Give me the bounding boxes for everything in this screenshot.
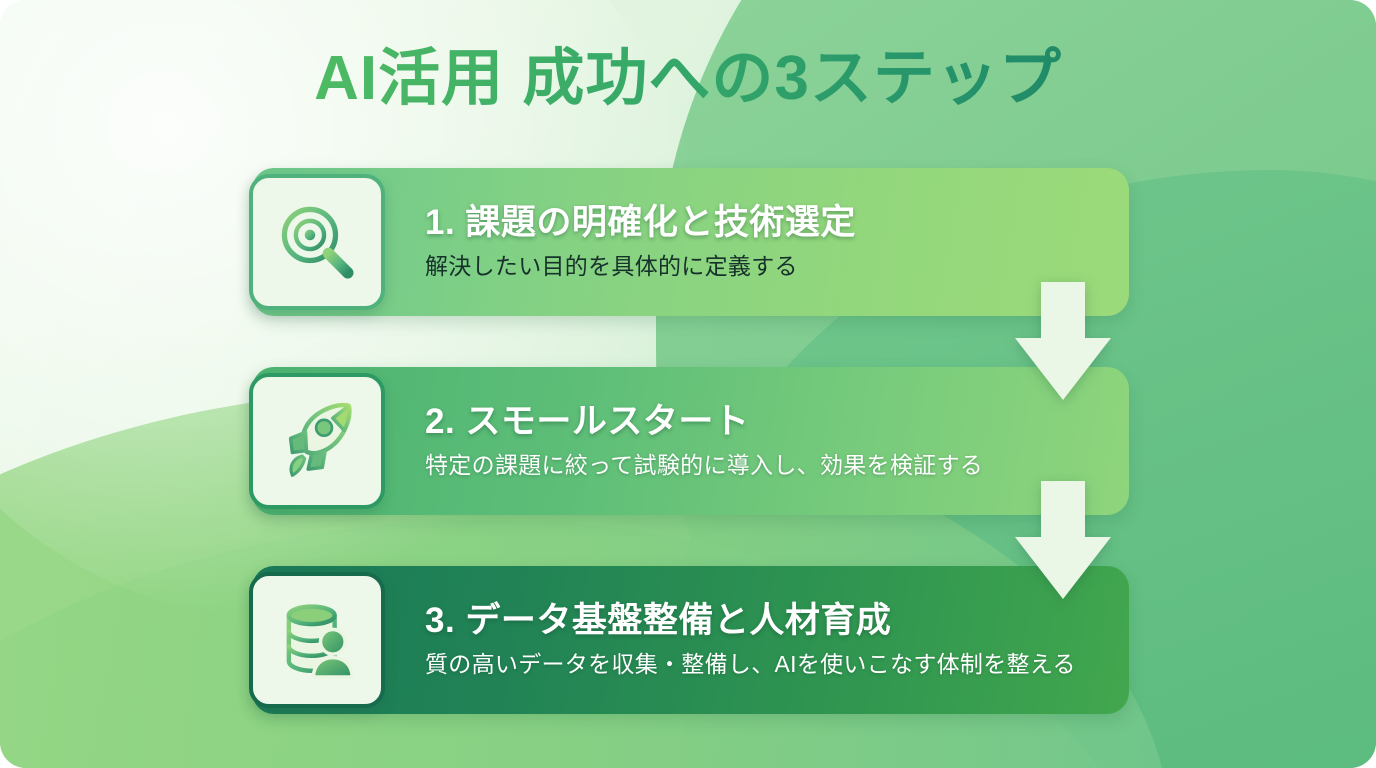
down-arrow-step1-to-step2 xyxy=(1015,282,1111,400)
step-heading-2: 2. スモールスタート xyxy=(425,402,983,443)
step-icon-tile-2 xyxy=(249,373,385,509)
infographic-slide: AI活用 成功への3ステップ xyxy=(0,0,1376,768)
database-person-icon xyxy=(273,596,361,684)
step-subtitle-2: 特定の課題に絞って試験的に導入し、効果を検証する xyxy=(425,451,983,480)
step-text-3: 3. データ基盤整備と人材育成 質の高いデータを収集・整備し、AIを使いこなす体… xyxy=(425,566,1106,714)
step-icon-tile-3 xyxy=(249,572,385,708)
down-arrow-step2-to-step3 xyxy=(1015,481,1111,599)
step-heading-3: 3. データ基盤整備と人材育成 xyxy=(425,601,1076,642)
rocket-icon xyxy=(273,397,361,485)
step-subtitle-3: 質の高いデータを収集・整備し、AIを使いこなす体制を整える xyxy=(425,650,1076,679)
step-subtitle-1: 解決したい目的を具体的に定義する xyxy=(425,252,856,281)
step-item-2: 2. スモールスタート 特定の課題に絞って試験的に導入し、効果を検証する xyxy=(249,367,1129,515)
step-item-1: 1. 課題の明確化と技術選定 解決したい目的を具体的に定義する xyxy=(249,168,1129,316)
steps-list: 1. 課題の明確化と技術選定 解決したい目的を具体的に定義する xyxy=(249,168,1131,714)
target-magnifier-icon xyxy=(273,198,361,286)
step-text-1: 1. 課題の明確化と技術選定 解決したい目的を具体的に定義する xyxy=(425,168,886,316)
step-heading-1: 1. 課題の明確化と技術選定 xyxy=(425,203,856,244)
step-icon-tile-1 xyxy=(249,174,385,310)
page-title: AI活用 成功への3ステップ xyxy=(0,44,1376,113)
step-text-2: 2. スモールスタート 特定の課題に絞って試験的に導入し、効果を検証する xyxy=(425,367,1013,515)
step-item-3: 3. データ基盤整備と人材育成 質の高いデータを収集・整備し、AIを使いこなす体… xyxy=(249,566,1129,714)
